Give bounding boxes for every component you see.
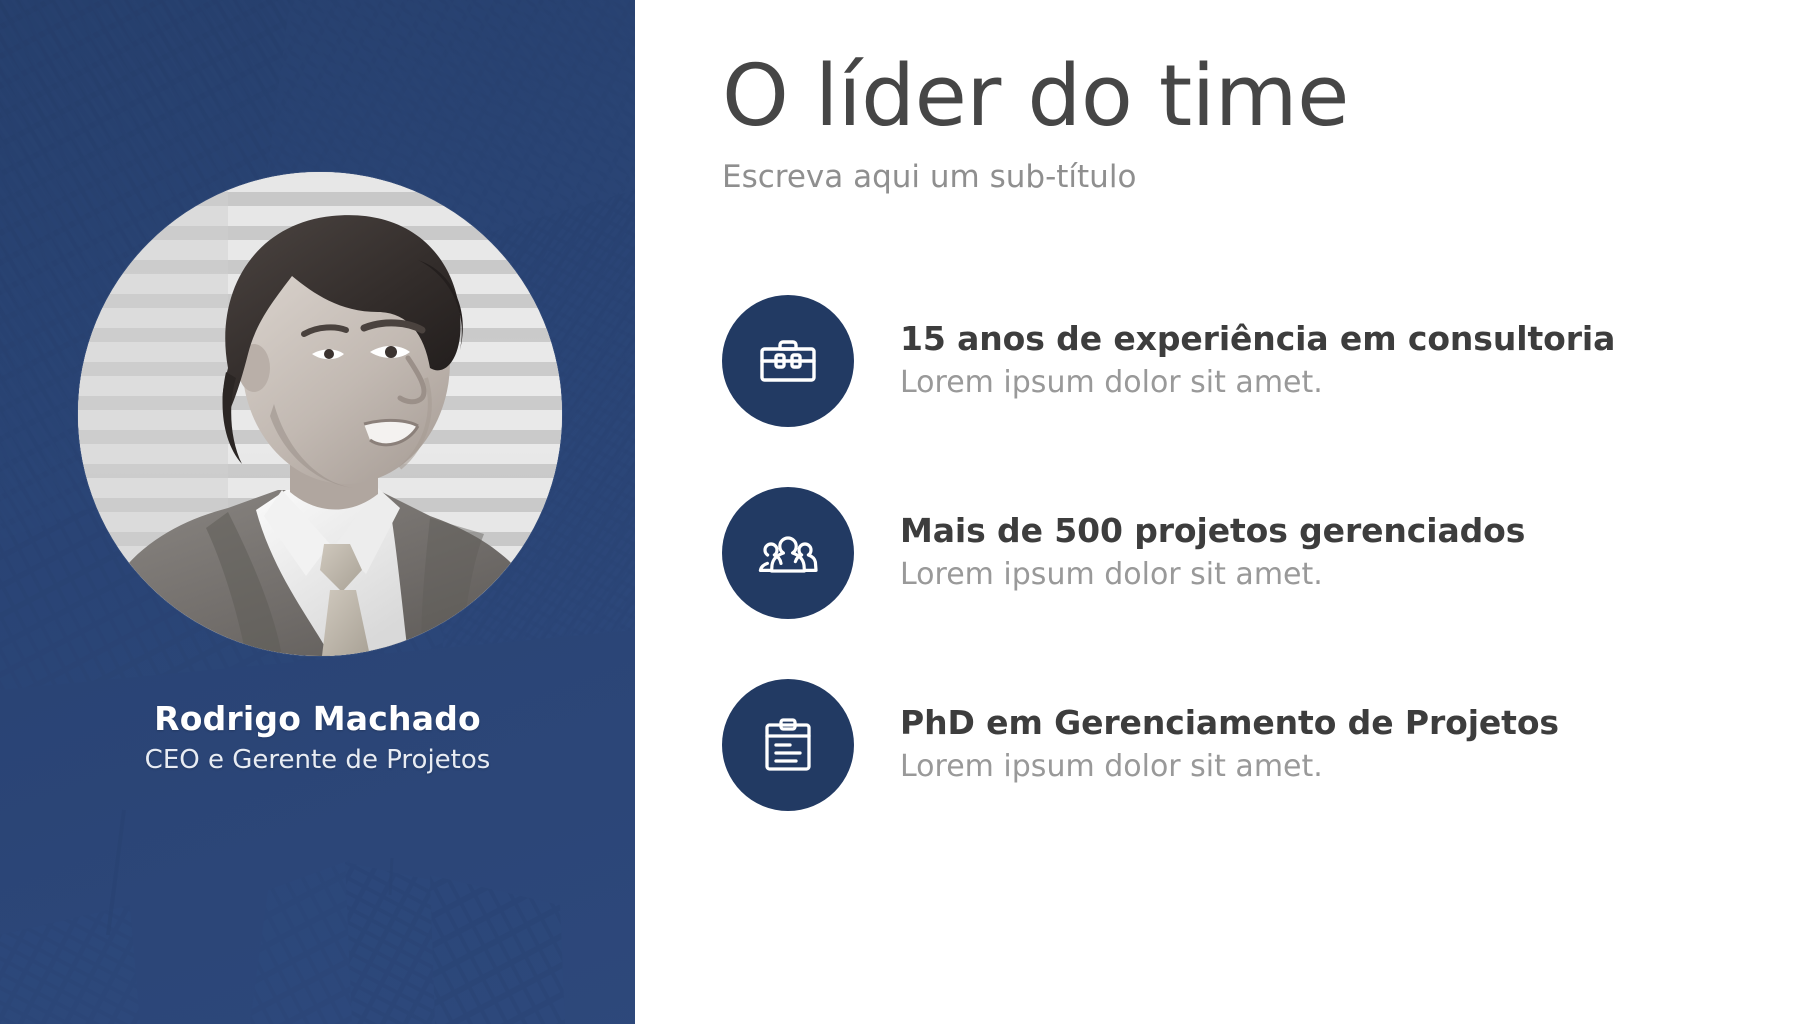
list-item-title: PhD em Gerenciamento de Projetos <box>900 703 1559 743</box>
content-panel: O líder do time Escreva aqui um sub-títu… <box>635 0 1820 1024</box>
page-subtitle: Escreva aqui um sub-título <box>722 158 1760 197</box>
list-item-subtitle: Lorem ipsum dolor sit amet. <box>900 557 1525 593</box>
list-item-title: 15 anos de experiência em consultoria <box>900 319 1615 359</box>
profile-role: CEO e Gerente de Projetos <box>30 745 605 776</box>
profile-name: Rodrigo Machado <box>30 700 605 739</box>
page-title: O líder do time <box>722 52 1760 142</box>
clipboard-icon <box>722 679 854 811</box>
slide: Rodrigo Machado CEO e Gerente de Projeto… <box>0 0 1820 1024</box>
avatar <box>78 172 562 656</box>
briefcase-icon <box>722 295 854 427</box>
list-item-text: Mais de 500 projetos gerenciados Lorem i… <box>900 511 1525 595</box>
profile-text-block: Rodrigo Machado CEO e Gerente de Projeto… <box>0 700 635 776</box>
list-item-subtitle: Lorem ipsum dolor sit amet. <box>900 365 1615 401</box>
list-item-text: 15 anos de experiência em consultoria Lo… <box>900 319 1615 403</box>
feature-list: 15 anos de experiência em consultoria Lo… <box>722 295 1760 811</box>
list-item[interactable]: Mais de 500 projetos gerenciados Lorem i… <box>722 487 1760 619</box>
list-item-text: PhD em Gerenciamento de Projetos Lorem i… <box>900 703 1559 787</box>
list-item[interactable]: 15 anos de experiência em consultoria Lo… <box>722 295 1760 427</box>
people-group-icon <box>722 487 854 619</box>
list-item-title: Mais de 500 projetos gerenciados <box>900 511 1525 551</box>
list-item[interactable]: PhD em Gerenciamento de Projetos Lorem i… <box>722 679 1760 811</box>
list-item-subtitle: Lorem ipsum dolor sit amet. <box>900 749 1559 785</box>
profile-panel: Rodrigo Machado CEO e Gerente de Projeto… <box>0 0 635 1024</box>
